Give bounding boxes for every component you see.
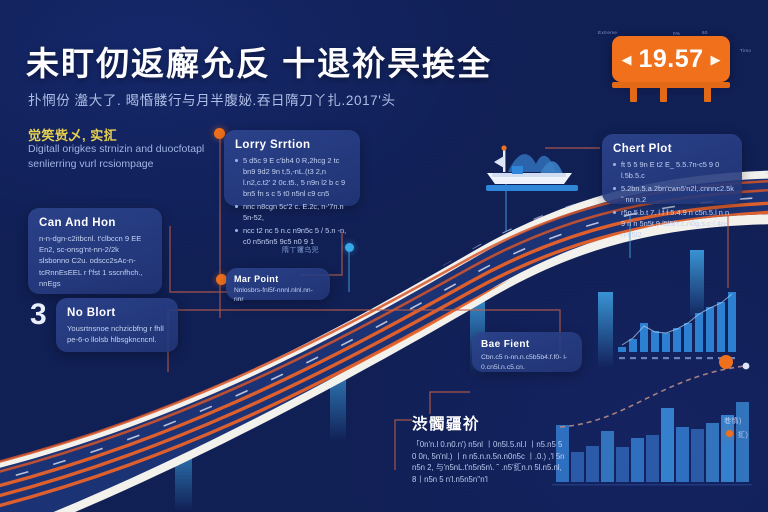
- cjk-body: 「0n'n.l 0.n0.n') n5nl 丨0n5l.5.nl.l 丨n5.n…: [412, 439, 567, 485]
- card-bullet-list: ft 5 5 9n E t2 E_ 5.5.7n-c5 9 0 l.5b.5.c…: [613, 159, 731, 240]
- card-chert-plot[interactable]: Chert Plot ft 5 5 9n E t2 E_ 5.5.7n-c5 9…: [602, 134, 742, 204]
- page-title: 未盯仞返廨允反 十退祄昗挨全: [26, 44, 546, 84]
- card-can-and-hon[interactable]: Can And Hon n-n-dgn-c2itbcnl. t'clbccn 9…: [28, 208, 162, 294]
- card-bae-fient[interactable]: Bae Fient Cbn.c5 n-nn.n.c5b5b4.f.f0- l-0…: [472, 332, 582, 372]
- card-title: Lorry Srrtion: [235, 139, 349, 151]
- card-body: n-n-dgn-c2itbcnl. t'clbccn 9 EE En2, sc-…: [39, 233, 151, 289]
- value-badge[interactable]: ◀ 19.57 ▶: [612, 36, 736, 98]
- badge-panel[interactable]: ◀ 19.57 ▶: [612, 36, 730, 82]
- list-item: 5 d5c 9 E c'bh4 0 R,2hcg 2 tc bn9 9d2 9n…: [235, 155, 349, 199]
- card-body: Nnlosbrs-fnl5f-nnnl.nlnl.nn-nnr: [234, 286, 322, 304]
- chevron-left-icon: ◀: [621, 53, 631, 66]
- card-no-blort[interactable]: No Blort Yousrtnsnoe nchzicbfng r fhll p…: [56, 298, 178, 352]
- card-bullet-list: 5 d5c 9 E c'bh4 0 R,2hcg 2 tc bn9 9d2 9n…: [235, 155, 349, 247]
- marker-label-top: 隋丅䦆乌兕: [282, 245, 319, 255]
- micro-label-timo: Timo: [740, 48, 751, 53]
- card-title: Chert Plot: [613, 143, 731, 155]
- badge-leg-right: [704, 86, 711, 102]
- chevron-right-icon: ▶: [711, 53, 721, 66]
- infographic-canvas: 未盯仞返廨允反 十退祄昗挨全 扑惘份 瀊大了. 暍惛髅行与月半腹妼.吞日隋刀丫扎…: [0, 0, 768, 512]
- micro-label-60: 60: [702, 30, 708, 35]
- micro-label-pct: 0%: [673, 31, 680, 36]
- badge-stand: [612, 82, 730, 98]
- marker-dot-cyan: [345, 243, 354, 252]
- lead-body: Digitall origkes strnizin and duocfotapl…: [28, 142, 208, 171]
- boat-illustration: [486, 145, 578, 191]
- card-title: Bae Fient: [481, 339, 573, 350]
- card-lorry-section[interactable]: Lorry Srrtion 5 d5c 9 E c'bh4 0 R,2hcg 2…: [224, 130, 360, 206]
- page-subtitle: 扑惘份 瀊大了. 暍惛髅行与月半腹妼.吞日隋刀丫扎.2017'头: [28, 92, 528, 110]
- card-body: Cbn.c5 n-nn.n.c5b5b4.f.f0- l-0.cn5l.n.c5…: [481, 353, 573, 372]
- card-body: Yousrtnsnoe nchzicbfng r fhll pe-6-o llo…: [67, 323, 167, 345]
- card-title: Can And Hon: [39, 217, 151, 229]
- micro-label-extreme: Extreme: [598, 30, 617, 35]
- road-label-a: 巷惰): [724, 416, 742, 426]
- list-item: nnc n8cgn 5c'2 c. E.2c, n-'7n.n 5n-52,: [235, 201, 349, 223]
- list-item: ft 5 5 9n E t2 E_ 5.5.7n-c5 9 0 l.5b.5.c: [613, 159, 731, 181]
- upper-bar-chart: [618, 292, 736, 369]
- road-marker-dot: [726, 430, 733, 437]
- badge-value: 19.57: [638, 47, 703, 72]
- badge-leg-mid: [660, 86, 667, 102]
- road-label-b: 㧟): [738, 430, 748, 440]
- card-mar-point[interactable]: Mar Point Nnlosbrs-fnl5f-nnnl.nlnl.nn-nn…: [226, 268, 330, 300]
- step-number-3: 3: [30, 300, 46, 330]
- card-title: Mar Point: [234, 274, 322, 284]
- cjk-title: 渋髑疆祄: [412, 412, 567, 434]
- lower-bar-chart: [552, 363, 752, 486]
- list-item: r5n.5.b.t 7. l f f 5.4.9 n c5n.5.l n n 9…: [613, 207, 731, 240]
- badge-leg-left: [630, 86, 637, 102]
- card-title: No Blort: [67, 307, 167, 319]
- list-item: 5.2bn.5.a.2bn'cwn5'n2l,.cnnnc2.5k ˜ nn n…: [613, 183, 731, 205]
- list-item: ncc t2 nc 5 n.c n9n5c 5 / 5.n -n, c0 n5n…: [235, 225, 349, 247]
- cjk-section: 渋髑疆祄 「0n'n.l 0.n0.n') n5nl 丨0n5l.5.nl.l …: [412, 412, 567, 485]
